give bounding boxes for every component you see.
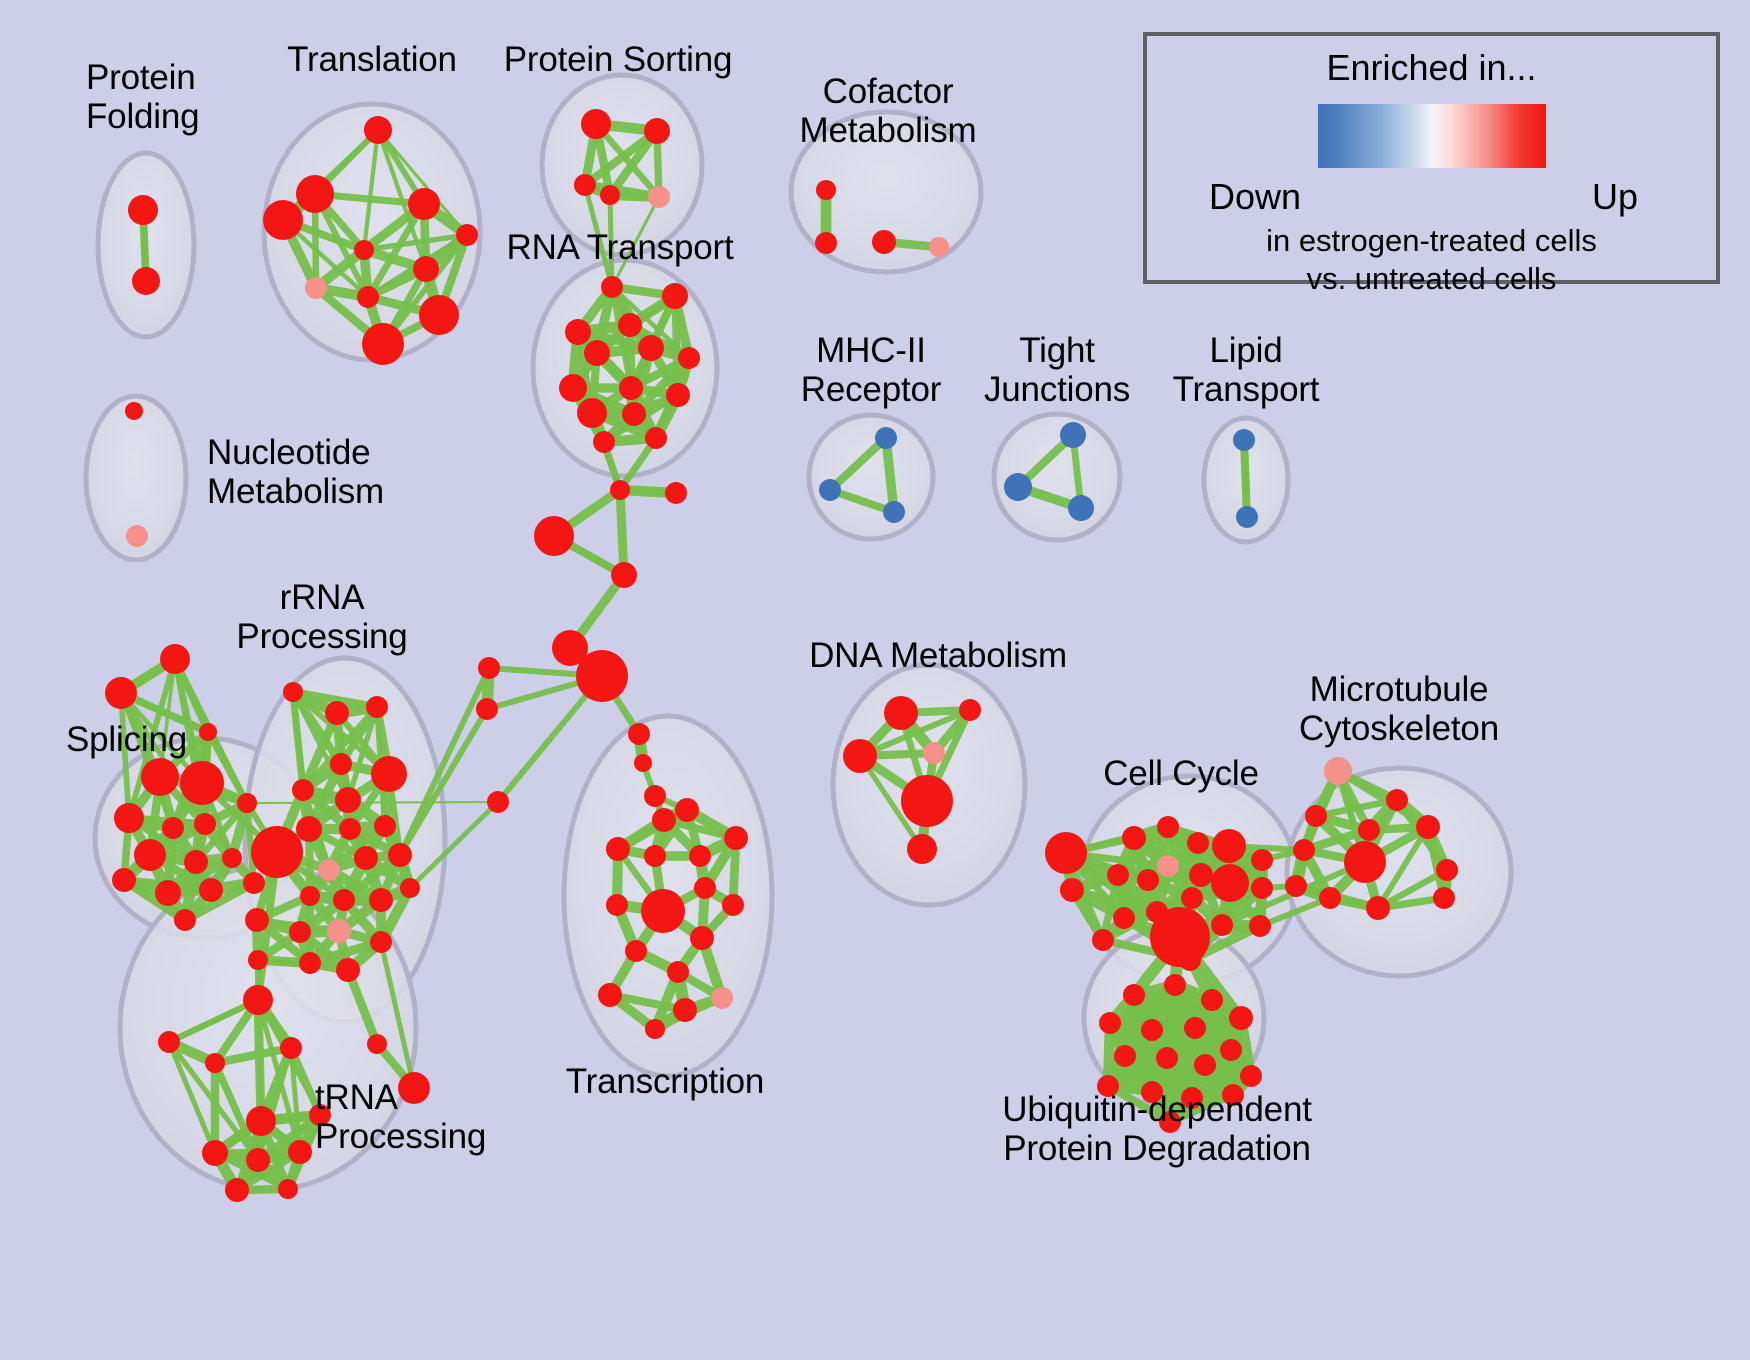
- cluster-label-mhc-ii-receptor: MHC-IIReceptor: [801, 331, 941, 409]
- network-node[interactable]: [278, 1179, 298, 1199]
- network-node[interactable]: [883, 501, 905, 523]
- cluster-label-protein-sorting: Protein Sorting: [504, 40, 733, 79]
- cluster-label-line: Protein Degradation: [1002, 1129, 1312, 1168]
- cluster-label-line: Processing: [315, 1117, 486, 1156]
- network-node[interactable]: [194, 813, 216, 835]
- network-node[interactable]: [205, 1053, 225, 1073]
- cluster-label-transcription: Transcription: [566, 1062, 764, 1101]
- network-node[interactable]: [330, 753, 352, 775]
- network-node[interactable]: [289, 921, 311, 943]
- cluster-label-rna-transport: RNA Transport: [507, 228, 734, 267]
- network-node[interactable]: [1212, 829, 1246, 863]
- cluster-label-trna-processing: tRNAProcessing: [315, 1078, 486, 1156]
- network-node[interactable]: [335, 787, 361, 813]
- cluster-label-tight-junctions: TightJunctions: [984, 331, 1130, 409]
- legend-up-label: Up: [1592, 176, 1638, 218]
- network-node[interactable]: [476, 698, 498, 720]
- network-node[interactable]: [1107, 864, 1129, 886]
- network-node[interactable]: [248, 950, 268, 970]
- network-node[interactable]: [581, 109, 611, 139]
- network-node[interactable]: [155, 880, 181, 906]
- network-node[interactable]: [1045, 832, 1087, 874]
- network-node[interactable]: [634, 754, 652, 772]
- network-node[interactable]: [606, 837, 630, 861]
- network-node[interactable]: [1319, 887, 1341, 909]
- network-node[interactable]: [419, 295, 459, 335]
- network-node[interactable]: [318, 859, 340, 881]
- network-node[interactable]: [665, 482, 687, 504]
- network-node[interactable]: [456, 224, 478, 246]
- network-node[interactable]: [114, 803, 144, 833]
- network-node[interactable]: [202, 1140, 228, 1166]
- network-node[interactable]: [1157, 816, 1179, 838]
- network-node[interactable]: [134, 839, 166, 871]
- network-node[interactable]: [872, 230, 896, 254]
- cluster-label-line: rRNA: [236, 578, 407, 617]
- network-node[interactable]: [722, 894, 744, 916]
- network-node[interactable]: [724, 826, 748, 850]
- cluster-label-dna-metabolism: DNA Metabolism: [809, 636, 1067, 675]
- legend-subtitle: in estrogen-treated cells vs. untreated …: [1147, 222, 1716, 298]
- network-node[interactable]: [1324, 757, 1352, 785]
- network-node[interactable]: [619, 376, 643, 400]
- network-node[interactable]: [1194, 1054, 1216, 1076]
- network-node[interactable]: [162, 817, 184, 839]
- network-node[interactable]: [1184, 1017, 1206, 1039]
- network-node[interactable]: [243, 985, 273, 1015]
- network-node[interactable]: [690, 926, 714, 950]
- network-node[interactable]: [576, 650, 628, 702]
- network-node[interactable]: [199, 723, 217, 741]
- network-node[interactable]: [283, 682, 303, 702]
- network-node[interactable]: [959, 699, 981, 721]
- network-node[interactable]: [652, 808, 676, 832]
- network-node[interactable]: [300, 886, 320, 906]
- network-node[interactable]: [625, 940, 647, 962]
- network-node[interactable]: [408, 188, 440, 220]
- network-node[interactable]: [662, 283, 688, 309]
- network-node[interactable]: [160, 644, 190, 674]
- network-node[interactable]: [237, 793, 257, 813]
- network-node[interactable]: [1240, 1065, 1262, 1087]
- cluster-label-line: Metabolism: [207, 472, 384, 511]
- network-node[interactable]: [370, 931, 392, 953]
- legend-title: Enriched in...: [1147, 47, 1716, 89]
- network-node[interactable]: [1123, 984, 1145, 1006]
- network-node[interactable]: [819, 479, 841, 501]
- network-node[interactable]: [487, 791, 509, 813]
- network-node[interactable]: [246, 1106, 276, 1136]
- cluster-label-line: tRNA: [315, 1078, 486, 1117]
- cluster-label-line: Translation: [287, 40, 457, 79]
- network-node[interactable]: [606, 894, 628, 916]
- network-node[interactable]: [666, 383, 690, 407]
- cluster-label-line: Ubiquitin-dependent: [1002, 1090, 1312, 1129]
- network-node[interactable]: [648, 186, 670, 208]
- network-node[interactable]: [1181, 887, 1203, 909]
- cluster-label-line: RNA Transport: [507, 228, 734, 267]
- network-node[interactable]: [644, 118, 670, 144]
- legend-color-gradient: [1318, 104, 1546, 168]
- cluster-blob-mhc-ii-receptor: [809, 415, 933, 539]
- network-node[interactable]: [1060, 878, 1084, 902]
- network-node[interactable]: [357, 286, 379, 308]
- network-node[interactable]: [816, 180, 836, 200]
- network-node[interactable]: [815, 232, 837, 254]
- network-node[interactable]: [1293, 839, 1315, 861]
- cluster-label-line: Metabolism: [800, 111, 977, 150]
- cluster-label-line: Transcription: [566, 1062, 764, 1101]
- network-node[interactable]: [601, 276, 623, 298]
- network-node[interactable]: [875, 427, 897, 449]
- network-node[interactable]: [369, 888, 393, 912]
- network-node[interactable]: [280, 1037, 302, 1059]
- network-node[interactable]: [1211, 914, 1233, 936]
- network-node[interactable]: [584, 340, 610, 366]
- network-node[interactable]: [364, 116, 392, 144]
- network-node[interactable]: [367, 1034, 387, 1054]
- network-node[interactable]: [1157, 855, 1179, 877]
- network-node[interactable]: [1137, 869, 1159, 891]
- network-node[interactable]: [1114, 1045, 1136, 1067]
- network-node[interactable]: [325, 701, 349, 725]
- network-node[interactable]: [565, 319, 591, 345]
- cluster-label-line: Junctions: [984, 370, 1130, 409]
- network-node[interactable]: [132, 267, 160, 295]
- network-node[interactable]: [263, 200, 303, 240]
- network-node[interactable]: [678, 347, 700, 369]
- network-node[interactable]: [126, 525, 148, 547]
- network-node[interactable]: [1004, 473, 1032, 501]
- network-node[interactable]: [843, 739, 877, 773]
- figure-canvas: ProteinFoldingTranslationProtein Sorting…: [0, 0, 1750, 1360]
- network-node[interactable]: [478, 657, 500, 679]
- network-node[interactable]: [413, 256, 439, 282]
- network-node[interactable]: [1201, 989, 1223, 1011]
- network-node[interactable]: [1358, 819, 1380, 841]
- cluster-label-line: Lipid: [1173, 331, 1320, 370]
- network-node[interactable]: [1366, 896, 1390, 920]
- network-node[interactable]: [292, 779, 314, 801]
- cluster-label-protein-folding: ProteinFolding: [86, 58, 199, 136]
- network-node[interactable]: [667, 961, 689, 983]
- network-node[interactable]: [374, 815, 396, 837]
- legend-down-label: Down: [1209, 176, 1301, 218]
- cluster-label-cell-cycle: Cell Cycle: [1103, 754, 1259, 793]
- legend-subtitle-line2: vs. untreated cells: [1147, 260, 1716, 298]
- network-node[interactable]: [1122, 826, 1146, 850]
- network-node[interactable]: [222, 848, 242, 868]
- cluster-label-cofactor-metabolism: CofactorMetabolism: [800, 72, 977, 150]
- network-node[interactable]: [246, 1148, 270, 1172]
- network-node[interactable]: [174, 909, 196, 931]
- network-node[interactable]: [158, 1031, 180, 1053]
- network-node[interactable]: [288, 1140, 312, 1164]
- cluster-label-line: Receptor: [801, 370, 941, 409]
- network-node[interactable]: [305, 277, 327, 299]
- network-node[interactable]: [611, 562, 637, 588]
- network-node[interactable]: [1344, 841, 1386, 883]
- network-node[interactable]: [180, 761, 224, 805]
- network-node[interactable]: [618, 313, 642, 337]
- network-node[interactable]: [184, 850, 208, 874]
- network-node[interactable]: [534, 516, 574, 556]
- network-node[interactable]: [199, 878, 223, 902]
- network-node[interactable]: [1189, 863, 1213, 887]
- cluster-label-ubiquitin-degradation: Ubiquitin-dependentProtein Degradation: [1002, 1090, 1312, 1168]
- cluster-label-rrna-processing: rRNAProcessing: [236, 578, 407, 656]
- cluster-label-nucleotide-metabolism: NucleotideMetabolism: [207, 433, 384, 511]
- legend-subtitle-line1: in estrogen-treated cells: [1147, 222, 1716, 260]
- network-node[interactable]: [644, 845, 666, 867]
- network-node[interactable]: [628, 723, 650, 745]
- network-edge: [258, 1000, 261, 1121]
- network-node[interactable]: [610, 480, 630, 500]
- network-node[interactable]: [901, 775, 953, 827]
- network-node[interactable]: [128, 195, 158, 225]
- cluster-label-splicing: Splicing: [66, 720, 187, 759]
- cluster-label-microtubule-cytoskeleton: MicrotubuleCytoskeleton: [1299, 670, 1499, 748]
- network-node[interactable]: [339, 818, 361, 840]
- network-node[interactable]: [1164, 974, 1186, 996]
- network-node[interactable]: [711, 987, 733, 1009]
- cluster-label-line: Nucleotide: [207, 433, 384, 472]
- network-node[interactable]: [362, 323, 404, 365]
- network-node[interactable]: [296, 175, 334, 213]
- network-node[interactable]: [694, 877, 716, 899]
- network-node[interactable]: [296, 816, 322, 842]
- network-node[interactable]: [675, 798, 699, 822]
- network-node[interactable]: [598, 983, 622, 1007]
- network-node[interactable]: [559, 374, 587, 402]
- network-node[interactable]: [371, 756, 407, 792]
- cluster-label-line: Tight: [984, 331, 1130, 370]
- cluster-label-line: Protein Sorting: [504, 40, 733, 79]
- cluster-label-line: Microtubule: [1299, 670, 1499, 709]
- network-node[interactable]: [923, 742, 945, 764]
- network-node[interactable]: [1249, 915, 1271, 937]
- network-node[interactable]: [1416, 815, 1440, 839]
- network-node[interactable]: [354, 846, 378, 870]
- network-node[interactable]: [907, 834, 937, 864]
- network-node[interactable]: [1187, 832, 1209, 854]
- network-node[interactable]: [333, 889, 355, 911]
- network-node[interactable]: [884, 696, 918, 730]
- network-node[interactable]: [1092, 929, 1114, 951]
- network-node[interactable]: [243, 872, 265, 894]
- network-node[interactable]: [574, 174, 596, 196]
- network-node[interactable]: [245, 908, 269, 932]
- cluster-label-line: Cytoskeleton: [1299, 709, 1499, 748]
- network-node[interactable]: [105, 677, 137, 709]
- network-node[interactable]: [354, 240, 374, 260]
- cluster-label-line: Folding: [86, 97, 199, 136]
- network-node[interactable]: [577, 398, 607, 428]
- network-node[interactable]: [1113, 907, 1135, 929]
- network-node[interactable]: [1251, 849, 1273, 871]
- network-node[interactable]: [645, 427, 667, 449]
- network-node[interactable]: [645, 1019, 665, 1039]
- cluster-label-lipid-transport: LipidTransport: [1173, 331, 1320, 409]
- network-node[interactable]: [141, 758, 179, 796]
- network-node[interactable]: [251, 826, 303, 878]
- network-node[interactable]: [1060, 422, 1086, 448]
- cluster-label-line: Protein: [86, 58, 199, 97]
- network-node[interactable]: [388, 843, 412, 867]
- network-node[interactable]: [225, 1178, 249, 1202]
- network-node[interactable]: [1179, 949, 1201, 971]
- network-node[interactable]: [400, 878, 420, 898]
- network-node[interactable]: [622, 402, 646, 426]
- network-node[interactable]: [1099, 1012, 1121, 1034]
- network-edge: [1244, 440, 1247, 517]
- cluster-label-line: Processing: [236, 617, 407, 656]
- network-node[interactable]: [600, 185, 620, 205]
- network-node[interactable]: [125, 402, 143, 420]
- network-node[interactable]: [1236, 506, 1258, 528]
- network-node[interactable]: [1211, 864, 1249, 902]
- cluster-label-line: MHC-II: [801, 331, 941, 370]
- network-node[interactable]: [1433, 887, 1455, 909]
- network-node[interactable]: [641, 889, 685, 933]
- network-node[interactable]: [593, 431, 615, 453]
- cluster-label-line: Cofactor: [800, 72, 977, 111]
- cluster-label-line: Cell Cycle: [1103, 754, 1259, 793]
- network-node[interactable]: [1386, 789, 1408, 811]
- network-node[interactable]: [644, 785, 666, 807]
- network-node[interactable]: [112, 868, 136, 892]
- network-node[interactable]: [1156, 1047, 1178, 1069]
- network-node[interactable]: [1229, 1006, 1253, 1030]
- network-node[interactable]: [673, 998, 697, 1022]
- cluster-label-line: Splicing: [66, 720, 187, 759]
- cluster-label-translation: Translation: [287, 40, 457, 79]
- network-node[interactable]: [1220, 1039, 1242, 1061]
- network-node[interactable]: [1251, 877, 1273, 899]
- network-node[interactable]: [929, 237, 949, 257]
- network-node[interactable]: [1141, 1019, 1163, 1041]
- network-node[interactable]: [366, 696, 388, 718]
- network-node[interactable]: [1436, 859, 1458, 881]
- network-node[interactable]: [336, 958, 360, 982]
- network-node[interactable]: [1068, 495, 1094, 521]
- network-edge: [247, 802, 498, 803]
- legend-box: Enriched in... Down Up in estrogen-treat…: [1143, 32, 1720, 284]
- network-node[interactable]: [327, 919, 351, 943]
- cluster-label-line: DNA Metabolism: [809, 636, 1067, 675]
- network-node[interactable]: [638, 335, 664, 361]
- cluster-label-line: Transport: [1173, 370, 1320, 409]
- network-node[interactable]: [1305, 805, 1327, 827]
- network-node[interactable]: [1233, 429, 1255, 451]
- network-node[interactable]: [299, 952, 321, 974]
- network-node[interactable]: [1285, 875, 1307, 897]
- network-node[interactable]: [689, 845, 711, 867]
